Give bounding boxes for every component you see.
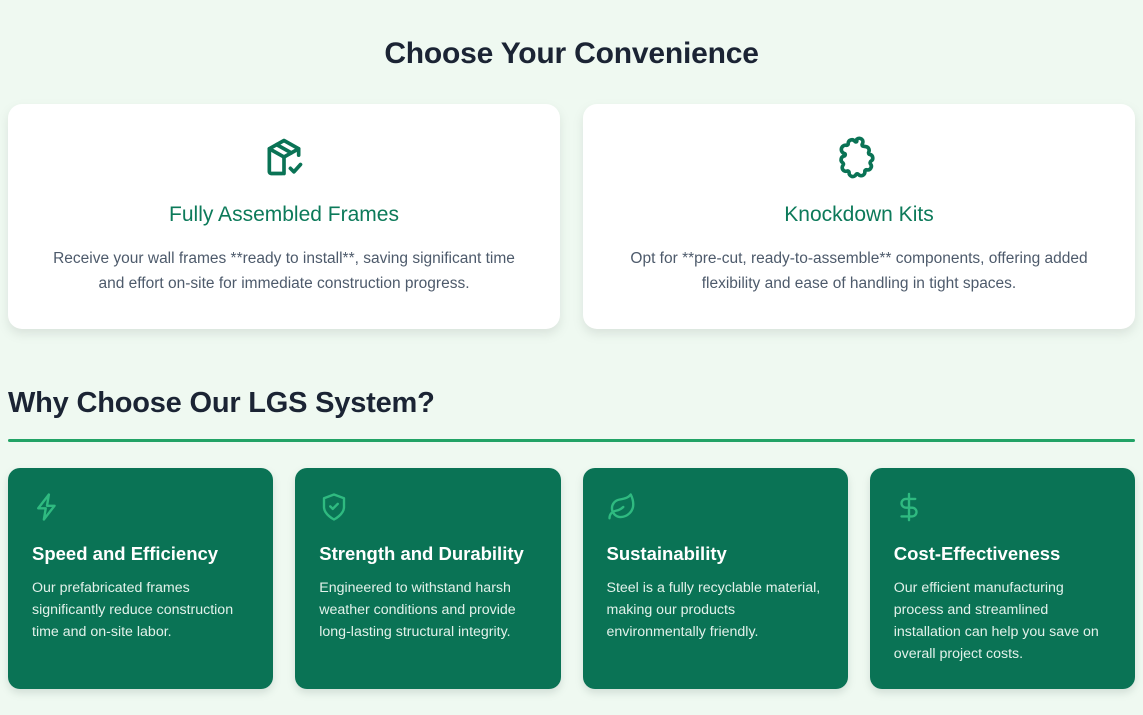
zap-icon [32, 492, 253, 526]
feature-card-speed-and-efficiency[interactable]: Speed and Efficiency Our prefabricated f… [8, 468, 273, 690]
leaf-icon [607, 492, 828, 526]
page-root: Choose Your Convenience Fully Assembled … [0, 0, 1143, 715]
why-choose-title: Why Choose Our LGS System? [8, 386, 1135, 421]
feature-card-description: Our efficient manufacturing process and … [894, 577, 1115, 665]
feature-card-description: Our prefabricated frames significantly r… [32, 577, 253, 643]
feature-card-title: Strength and Durability [319, 542, 540, 566]
feature-card-strength-and-durability[interactable]: Strength and Durability Engineered to wi… [295, 468, 560, 690]
convenience-card-title: Knockdown Kits [609, 202, 1109, 228]
convenience-card-knockdown-kits[interactable]: Knockdown Kits Opt for **pre-cut, ready-… [583, 104, 1135, 329]
convenience-card-title: Fully Assembled Frames [34, 202, 534, 228]
page-title: Choose Your Convenience [8, 0, 1135, 72]
puzzle-piece-icon [609, 134, 1109, 180]
convenience-card-fully-assembled-frames[interactable]: Fully Assembled Frames Receive your wall… [8, 104, 560, 329]
feature-card-cost-effectiveness[interactable]: Cost-Effectiveness Our efficient manufac… [870, 468, 1135, 690]
feature-card-description: Engineered to withstand harsh weather co… [319, 577, 540, 643]
shield-check-icon [319, 492, 540, 526]
convenience-card-description: Receive your wall frames **ready to inst… [39, 246, 529, 296]
feature-card-title: Speed and Efficiency [32, 542, 253, 566]
section-divider [8, 439, 1135, 442]
feature-card-sustainability[interactable]: Sustainability Steel is a fully recyclab… [583, 468, 848, 690]
package-check-icon [34, 134, 534, 180]
convenience-card-grid: Fully Assembled Frames Receive your wall… [8, 104, 1135, 329]
convenience-card-description: Opt for **pre-cut, ready-to-assemble** c… [614, 246, 1104, 296]
dollar-sign-icon [894, 492, 1115, 526]
why-choose-section: Why Choose Our LGS System? Speed and Eff… [8, 386, 1135, 689]
feature-card-title: Cost-Effectiveness [894, 542, 1115, 566]
feature-card-title: Sustainability [607, 542, 828, 566]
feature-card-grid: Speed and Efficiency Our prefabricated f… [8, 468, 1135, 690]
feature-card-description: Steel is a fully recyclable material, ma… [607, 577, 828, 643]
